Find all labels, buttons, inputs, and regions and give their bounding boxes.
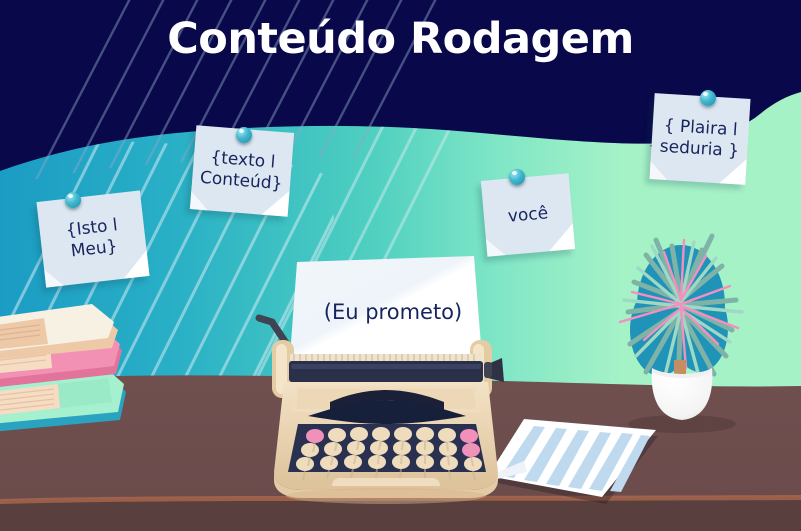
pushpin-icon-4	[700, 90, 716, 106]
sticky-note-4[interactable]: { Plaira l seduria }	[649, 93, 750, 185]
sticky-note-3[interactable]: você	[481, 173, 575, 256]
sticky-note-4-text: { Plaira l seduria }	[651, 113, 750, 164]
pushpin-icon-2	[236, 127, 252, 143]
pushpin-icon-1	[65, 192, 81, 208]
pushpin-icon-3	[509, 169, 525, 185]
typewriter	[259, 256, 504, 504]
sticky-note-1[interactable]: {Isto l Meu}	[36, 190, 149, 287]
sticky-note-3-text: você	[501, 200, 555, 229]
illustration-canvas: Conteúdo Rodagem (Eu prometo) {Isto l Me…	[0, 0, 801, 531]
typewriter-sheet	[290, 256, 482, 358]
sticky-note-2-text: {texto l Conteúd}	[191, 144, 292, 197]
book-stack	[0, 304, 126, 432]
